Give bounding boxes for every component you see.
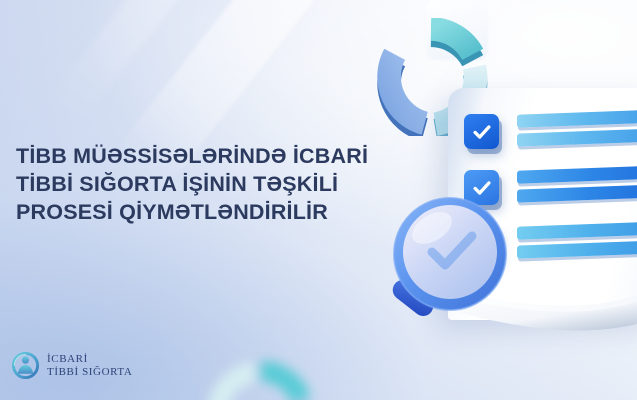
brand-logo-text: İCBARİ TİBBİ SIĞORTA (47, 353, 132, 378)
checklist-text-bars (517, 168, 637, 206)
decorative-diagonal-bar-2 (47, 0, 232, 126)
text-bar (517, 240, 637, 258)
text-bar (517, 165, 637, 183)
promo-banner: TİBB MÜƏSSİSƏLƏRİNDƏ İCBARİ TİBBİ SIĞORT… (0, 0, 637, 400)
donut-chart-blurred (205, 358, 317, 400)
checklist-text-bars (517, 224, 637, 262)
brand-logo-line-1: İCBARİ (47, 353, 132, 366)
icbari-tibbi-sigorta-logo-icon (11, 351, 40, 380)
text-bar (517, 184, 637, 202)
checklist-text-bars (517, 112, 637, 150)
brand-logo-line-2: TİBBİ SIĞORTA (47, 366, 132, 379)
text-bar (517, 109, 637, 127)
magnifying-glass (388, 192, 516, 334)
text-bar (517, 221, 637, 239)
brand-logo: İCBARİ TİBBİ SIĞORTA (11, 351, 132, 380)
text-bar (517, 128, 637, 146)
checkbox-checked-icon[interactable] (464, 114, 499, 149)
illustration (330, 0, 637, 400)
checklist-row[interactable] (464, 110, 637, 166)
